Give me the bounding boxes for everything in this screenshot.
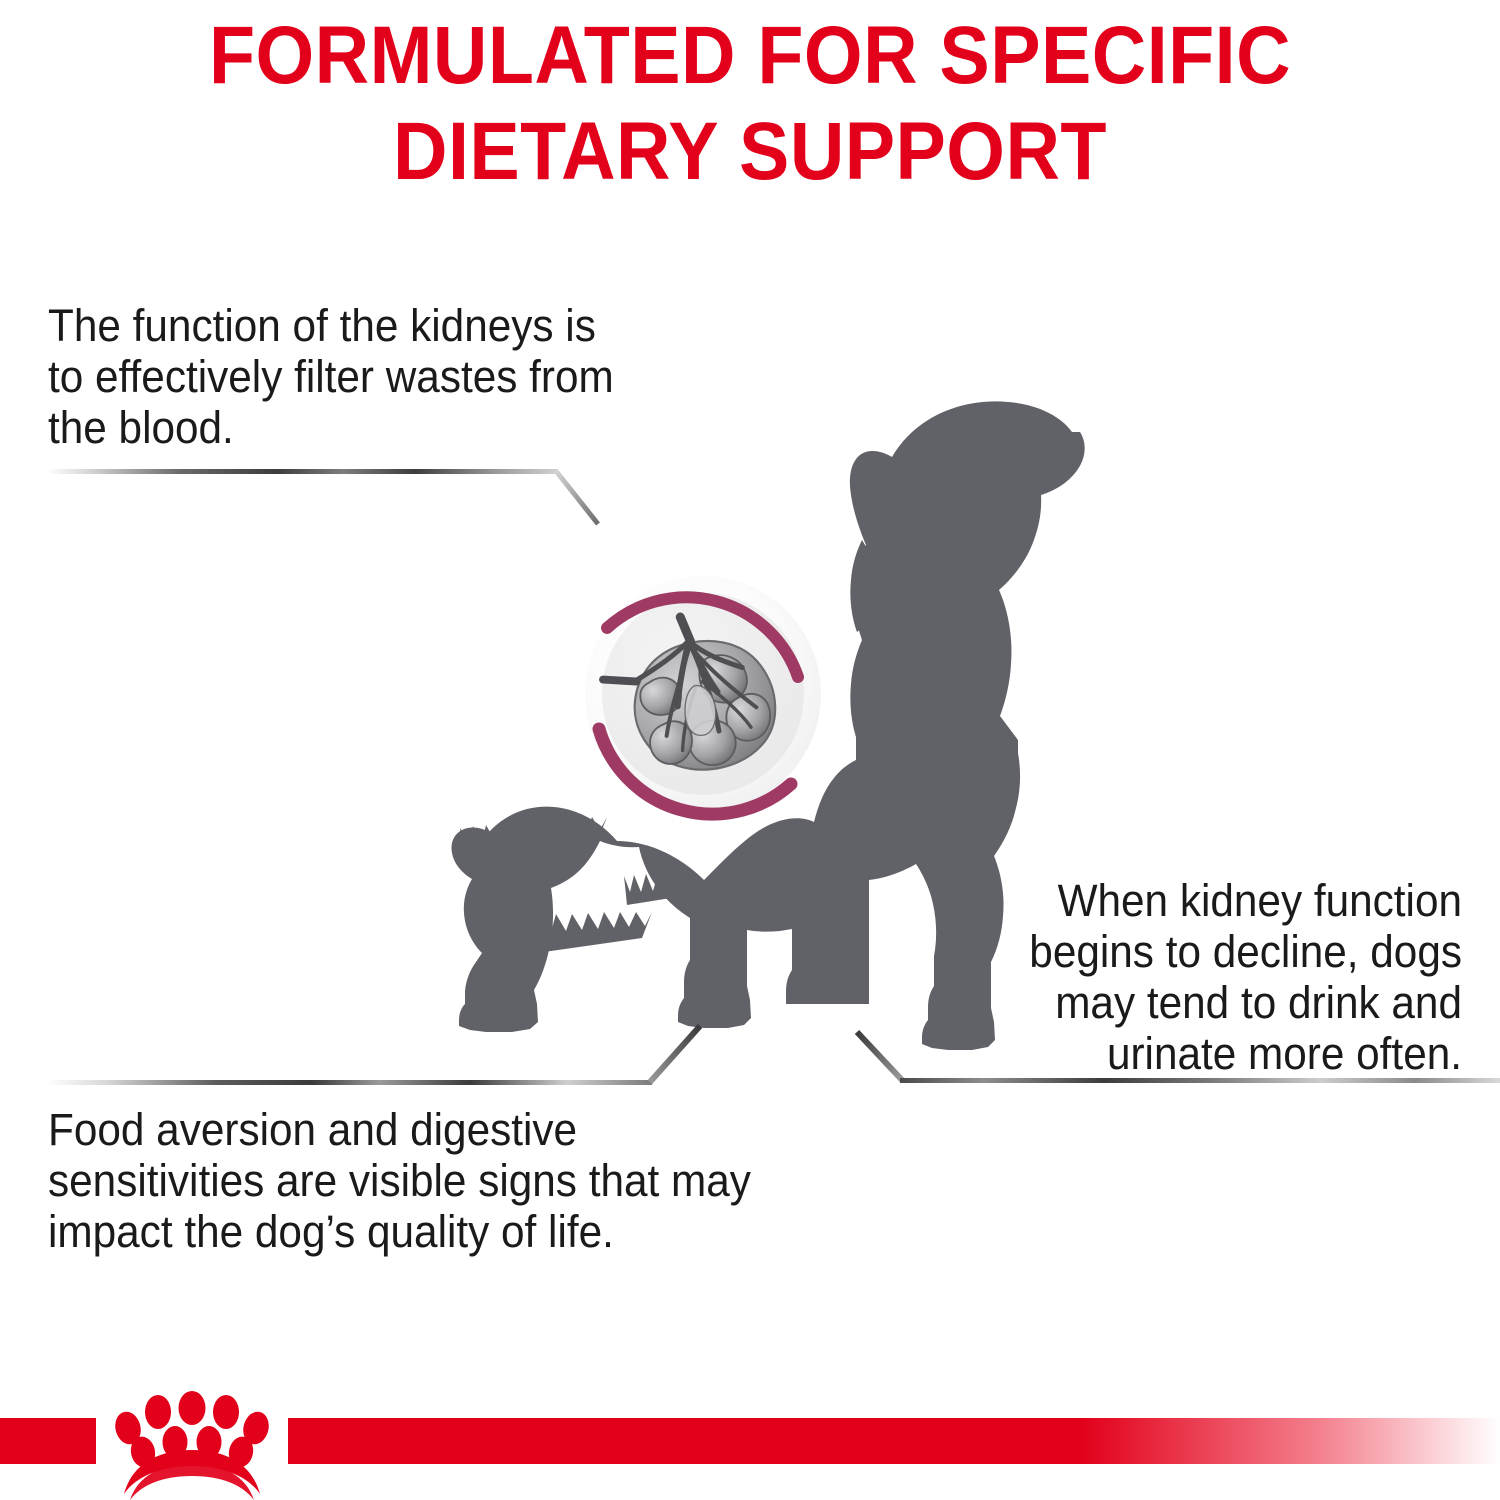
royal-canin-crown-logo [96,1390,288,1500]
leader-line-bottom-left [46,1026,700,1085]
leader-lines-layer [0,0,1500,1500]
infographic-poster: FORMULATED FOR SPECIFIC DIETARY SUPPORT [0,0,1500,1500]
leader-line-top-left [46,469,598,524]
leader-line-right [857,1032,1500,1083]
